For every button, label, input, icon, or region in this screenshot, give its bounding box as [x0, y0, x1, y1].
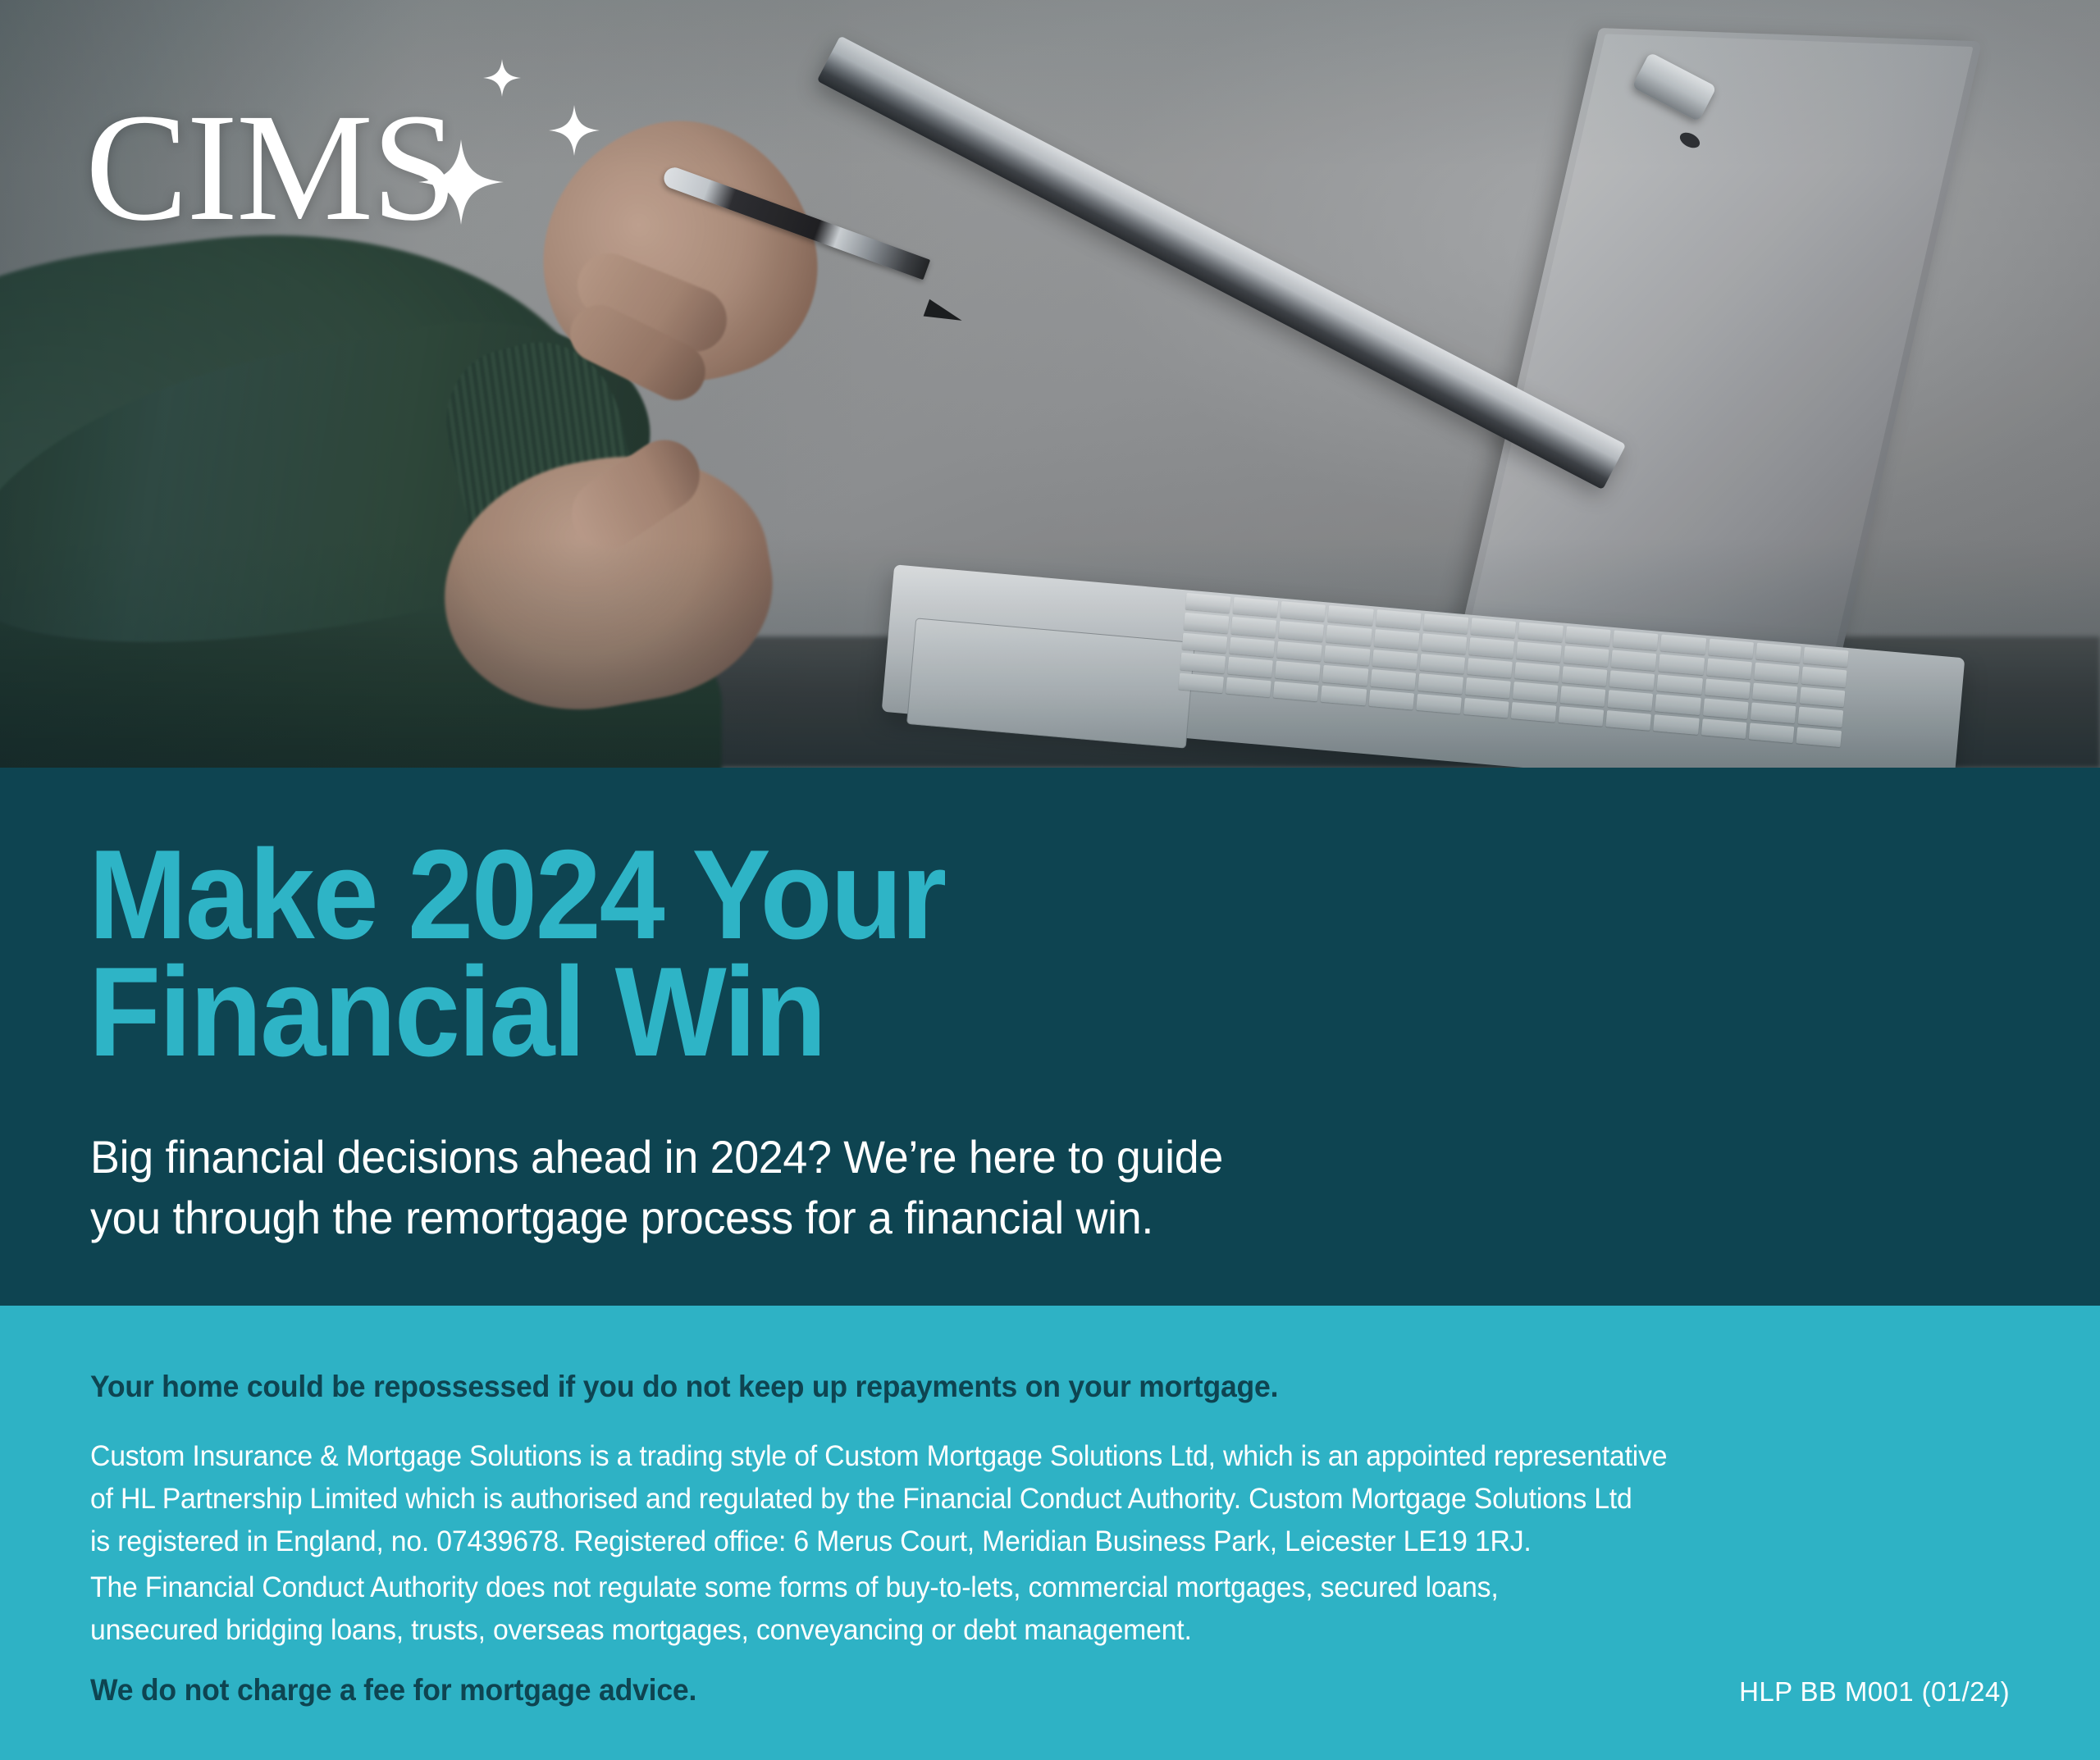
repossession-warning: Your home could be repossessed if you do… [90, 1370, 1278, 1404]
headline-line-2: Financial Win [89, 954, 1386, 1071]
brand-logo: CIMS [85, 90, 456, 244]
sparkle-icon [418, 139, 504, 225]
sparkle-icon [549, 105, 600, 156]
legal-line: Custom Insurance & Mortgage Solutions is… [90, 1435, 2006, 1478]
sparkle-icon [483, 59, 521, 97]
subheading: Big financial decisions ahead in 2024? W… [90, 1127, 1477, 1248]
legal-paragraph-2: The Financial Conduct Authority does not… [90, 1566, 2006, 1652]
reference-code: HLP BB M001 (01/24) [1739, 1676, 2010, 1708]
legal-footer-band: Your home could be repossessed if you do… [0, 1306, 2100, 1760]
legal-line: unsecured bridging loans, trusts, overse… [90, 1609, 2006, 1652]
subheading-line-1: Big financial decisions ahead in 2024? W… [90, 1127, 1477, 1188]
legal-line: The Financial Conduct Authority does not… [90, 1566, 2006, 1609]
marketing-poster: CIMS Make 2024 Your Financial Win Big fi… [0, 0, 2100, 1760]
headline-band: Make 2024 Your Financial Win Big financi… [0, 768, 2100, 1306]
subheading-line-2: you through the remortgage process for a… [90, 1188, 1477, 1248]
legal-paragraph-1: Custom Insurance & Mortgage Solutions is… [90, 1435, 2006, 1562]
page-title: Make 2024 Your Financial Win [89, 837, 1386, 1070]
legal-line: of HL Partnership Limited which is autho… [90, 1478, 2006, 1521]
legal-line: is registered in England, no. 07439678. … [90, 1521, 2006, 1563]
fee-statement: We do not charge a fee for mortgage advi… [90, 1673, 696, 1708]
logo-wordmark: CIMS [85, 90, 456, 244]
